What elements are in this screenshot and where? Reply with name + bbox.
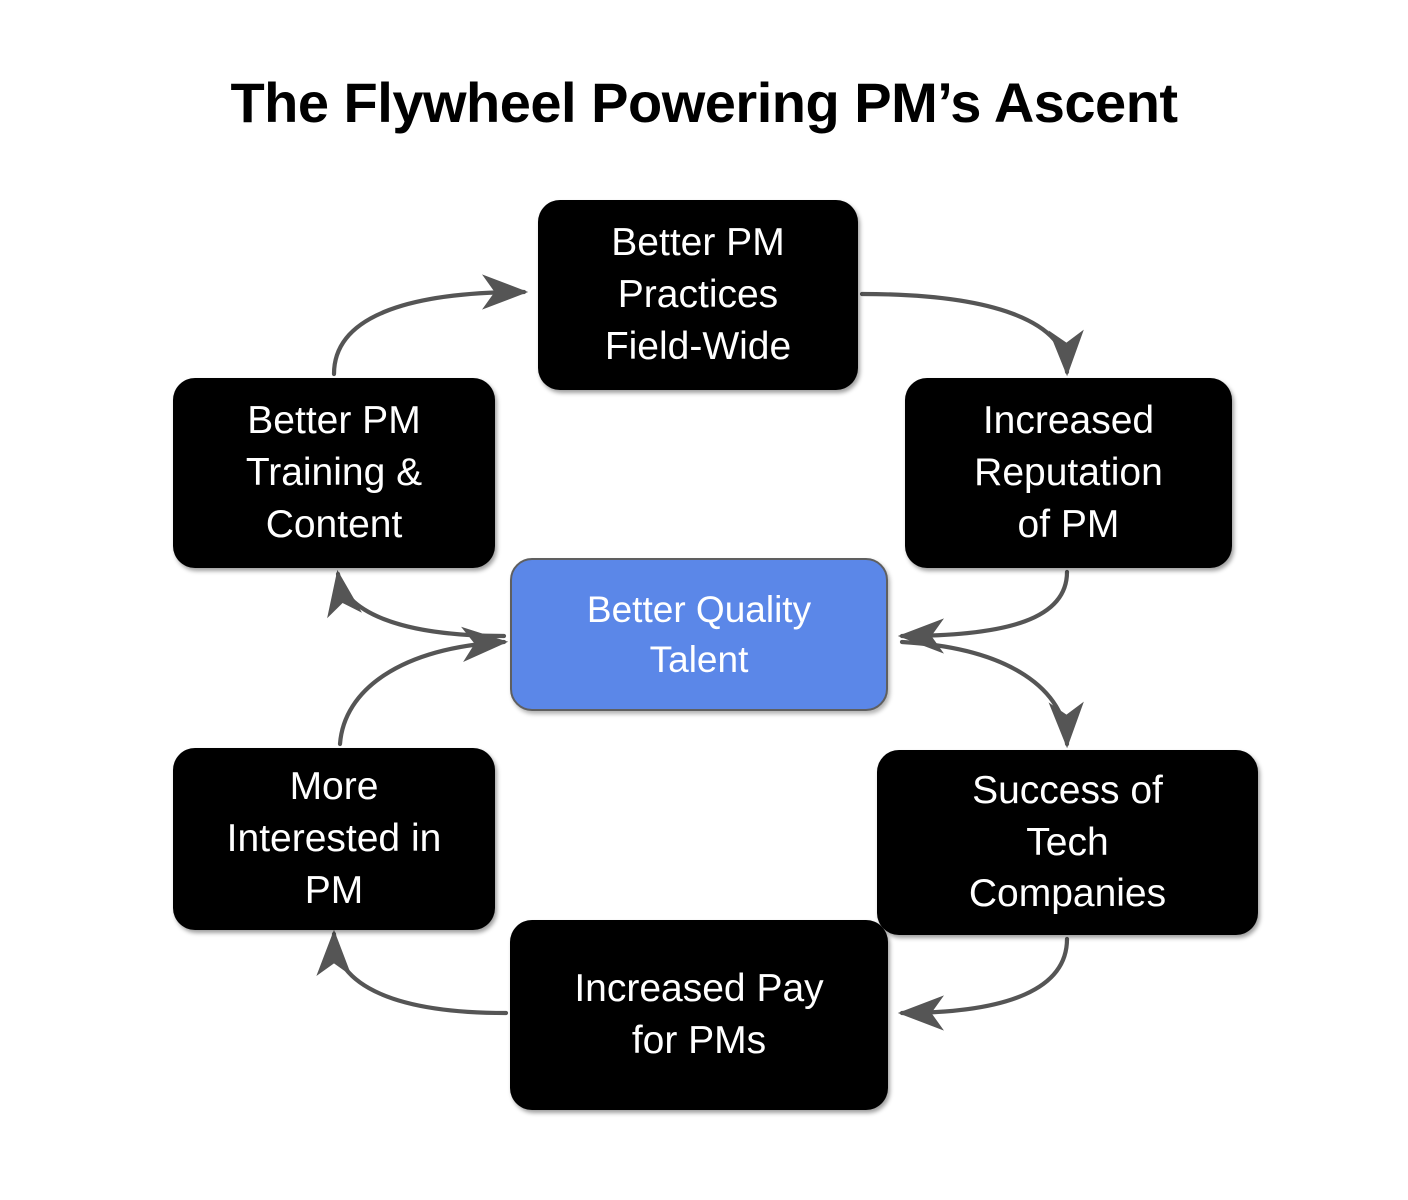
- node-success-of-tech-companies[interactable]: Success of Tech Companies: [877, 750, 1258, 935]
- edge-training-to-practices: [334, 292, 524, 374]
- edge-talent-to-success: [902, 642, 1067, 744]
- node-label: More Interested in PM: [227, 761, 442, 917]
- node-label: Success of Tech Companies: [969, 765, 1166, 921]
- node-label: Better PM Training & Content: [246, 395, 422, 551]
- edge-interested-to-talent: [340, 642, 504, 744]
- edge-pay-to-interested: [334, 934, 506, 1013]
- node-label: Increased Pay for PMs: [574, 963, 823, 1067]
- edge-talent-to-training: [338, 574, 504, 636]
- node-increased-pay-for-pms[interactable]: Increased Pay for PMs: [510, 920, 888, 1110]
- node-better-quality-talent[interactable]: Better Quality Talent: [510, 558, 888, 711]
- node-label: Better Quality Talent: [587, 585, 811, 683]
- edge-practices-to-reputation: [862, 294, 1067, 372]
- node-better-pm-training-and-content[interactable]: Better PM Training & Content: [173, 378, 495, 568]
- node-label: Better PM Practices Field-Wide: [605, 217, 791, 373]
- node-label: Increased Reputation of PM: [974, 395, 1163, 551]
- node-increased-reputation-of-pm[interactable]: Increased Reputation of PM: [905, 378, 1232, 568]
- flywheel-diagram-canvas: The Flywheel Powering PM’s Ascent: [0, 0, 1408, 1200]
- node-more-interested-in-pm[interactable]: More Interested in PM: [173, 748, 495, 930]
- edge-reputation-to-talent: [902, 572, 1067, 636]
- edge-success-to-pay: [902, 939, 1067, 1013]
- node-better-pm-practices-field-wide[interactable]: Better PM Practices Field-Wide: [538, 200, 858, 390]
